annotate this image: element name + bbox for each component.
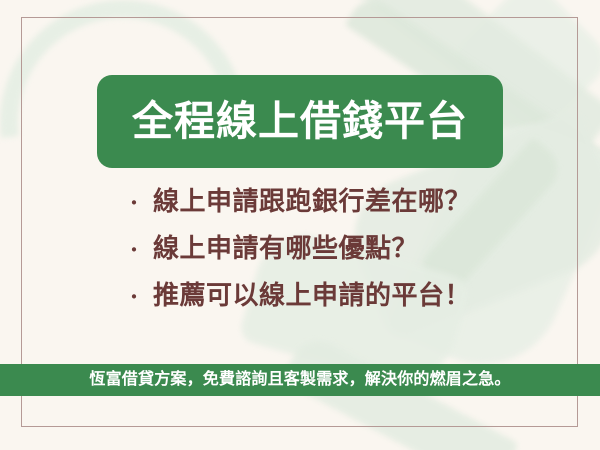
bullet-item-label: 線上申請跟跑銀行差在哪？ — [153, 188, 471, 214]
bullet-list: ・ 線上申請跟跑銀行差在哪？ ・ 線上申請有哪些優點？ ・ 推薦可以線上申請的平… — [124, 188, 554, 329]
footer-banner: 恆富借貸方案，免費諮詢且客製需求，解決你的燃眉之急。 — [0, 364, 600, 396]
promo-poster: 全程線上借錢平台 ・ 線上申請跟跑銀行差在哪？ ・ 線上申請有哪些優點？ ・ 推… — [0, 0, 600, 450]
bullet-dot-icon: ・ — [124, 241, 144, 261]
title-banner: 全程線上借錢平台 — [97, 75, 503, 168]
bullet-dot-icon: ・ — [124, 288, 144, 308]
page-title: 全程線上借錢平台 — [132, 101, 468, 142]
poster-content: 全程線上借錢平台 ・ 線上申請跟跑銀行差在哪？ ・ 線上申請有哪些優點？ ・ 推… — [0, 0, 600, 450]
list-item: ・ 推薦可以線上申請的平台！ — [124, 282, 554, 329]
bullet-dot-icon: ・ — [124, 194, 144, 214]
footer-tagline: 恆富借貸方案，免費諮詢且客製需求，解決你的燃眉之急。 — [89, 372, 510, 388]
bullet-item-label: 線上申請有哪些優點？ — [153, 235, 418, 261]
bullet-item-label: 推薦可以線上申請的平台！ — [153, 282, 471, 308]
list-item: ・ 線上申請跟跑銀行差在哪？ — [124, 188, 554, 235]
list-item: ・ 線上申請有哪些優點？ — [124, 235, 554, 282]
